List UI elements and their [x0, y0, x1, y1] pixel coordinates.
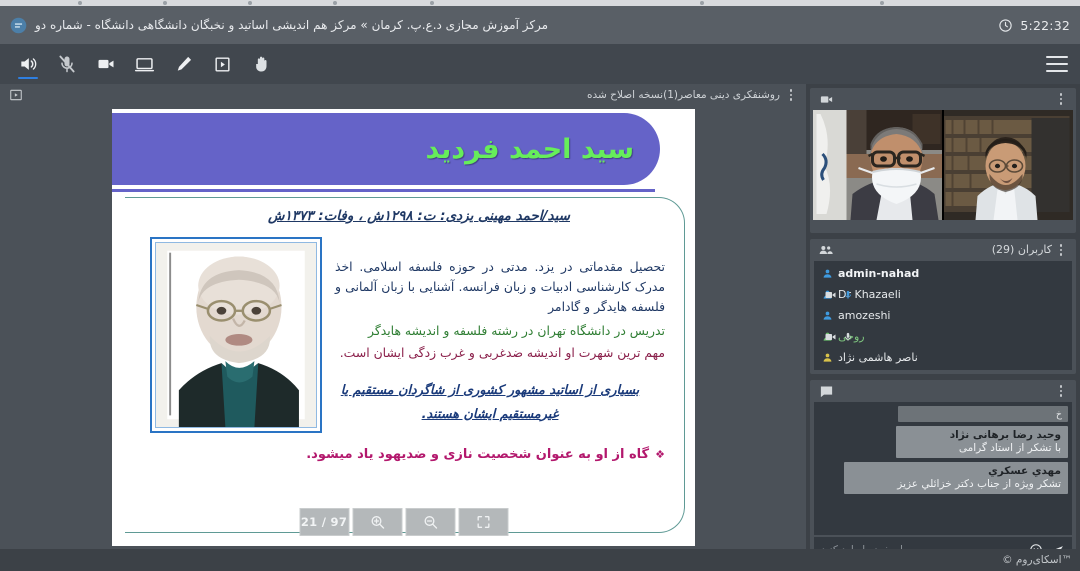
- app-footer: © اسکای‌روم™: [0, 549, 1080, 571]
- participant-name: amozeshi: [838, 309, 891, 322]
- room-logo-icon: [10, 17, 27, 34]
- camera-feeds: [813, 110, 1073, 220]
- speaker-icon: [18, 54, 38, 74]
- slide-subtitle: سید/احمد مهینی یزدی: ت: ۱۲۹۸ش ، وفات: ۱۳…: [179, 208, 659, 224]
- bullet-marker-icon: ❖: [655, 447, 665, 464]
- chat-message-author: وحید رضا برهانی نژاد: [903, 429, 1061, 441]
- app-header: 5:22:32 مرکز آموزش مجازی د.ع.پ. کرمان » …: [0, 6, 1080, 44]
- chat-partial-message-text: خ: [1056, 409, 1062, 420]
- pen-icon-button[interactable]: [164, 44, 203, 84]
- chat-message-text: با تشکر از استاد گرامی: [903, 442, 1061, 454]
- chat-panel: خ وحید رضا برهانی نژاد با تشکر از استاد …: [810, 380, 1076, 567]
- session-timer: 5:22:32: [998, 18, 1070, 33]
- presentation-icon[interactable]: [8, 87, 24, 103]
- microphone-icon[interactable]: [843, 289, 853, 301]
- microphone-muted-icon-button[interactable]: [47, 44, 86, 84]
- right-sidebar: کاربران (29) admin-nahad: [806, 84, 1080, 571]
- microphone-muted-icon: [57, 54, 77, 74]
- screen-share-icon-button[interactable]: [125, 44, 164, 84]
- camera-feed-left[interactable]: [944, 110, 1073, 220]
- list-item[interactable]: روحی: [814, 326, 1072, 347]
- clock-icon: [998, 18, 1013, 33]
- slide-body-text: تحصیل مقدماتی در یزد. مدتی در حوزه فلسفه…: [335, 257, 665, 365]
- chat-message-text: تشکر ویژه از جناب دکتر خزائلي عزیز: [851, 478, 1061, 490]
- slide-bullet-item: ❖ گاه از او به عنوان شخصیت نازی و ضدیهود…: [295, 447, 665, 464]
- slide-canvas[interactable]: سید احمد فردید سید/احمد مهینی یزدی: ت: ۱…: [112, 109, 695, 546]
- session-timer-text: 5:22:32: [1020, 18, 1070, 33]
- page-indicator-label: 21 / 97: [301, 515, 347, 529]
- raise-hand-icon: [252, 54, 272, 74]
- chat-icon: [818, 383, 834, 399]
- fullscreen-button[interactable]: [458, 508, 508, 536]
- participants-panel-header: کاربران (29): [810, 239, 1076, 261]
- zoom-in-icon: [369, 514, 385, 530]
- camera-panel: [810, 88, 1076, 233]
- slide-highlight-text: بسیاری از اساتید مشهور کشوری از شاگردان …: [315, 379, 665, 426]
- slide-portrait-frame: [150, 237, 322, 433]
- media-player-icon: [213, 55, 232, 74]
- camera-more-options-icon[interactable]: [1054, 91, 1068, 107]
- slide-paragraph-1: تحصیل مقدماتی در یزد. مدتی در حوزه فلسفه…: [335, 257, 665, 317]
- slide-bullet-text: گاه از او به عنوان شخصیت نازی و ضدیهود ی…: [306, 447, 649, 462]
- people-icon: [818, 242, 834, 258]
- hamburger-menu-icon[interactable]: [1046, 56, 1068, 72]
- list-item[interactable]: admin-nahad: [814, 263, 1072, 284]
- room-title: مرکز آموزش مجازی د.ع.پ. کرمان » مرکز هم …: [35, 18, 548, 32]
- zoom-in-button[interactable]: [352, 508, 402, 536]
- speaker-icon-button[interactable]: [8, 44, 47, 84]
- chat-message-list[interactable]: خ وحید رضا برهانی نژاد با تشکر از استاد …: [814, 402, 1072, 535]
- list-item[interactable]: Dr Khazaeli: [814, 284, 1072, 305]
- chat-message: مهدي عسکري تشکر ویژه از جناب دکتر خزائلي…: [844, 462, 1068, 494]
- chat-message-author: مهدي عسکري: [851, 465, 1061, 477]
- participant-status-icons: [824, 331, 853, 343]
- camera-feed-right[interactable]: [813, 110, 942, 220]
- zoom-out-icon: [422, 514, 438, 530]
- stage-more-options-icon[interactable]: [784, 87, 798, 103]
- slide-title-banner: سید احمد فردید: [112, 113, 660, 185]
- room-identity: مرکز آموزش مجازی د.ع.پ. کرمان » مرکز هم …: [10, 17, 548, 34]
- camera-icon-button[interactable]: [86, 44, 125, 84]
- list-item[interactable]: amozeshi: [814, 305, 1072, 326]
- stage-document-title: روشنفکری دینی معاصر(1)نسخه اصلاح شده: [587, 87, 780, 103]
- participant-status-icons: [824, 289, 853, 301]
- participants-more-options-icon[interactable]: [1054, 242, 1068, 258]
- avatar: [156, 243, 316, 427]
- zoom-out-button[interactable]: [405, 508, 455, 536]
- camera-icon: [818, 91, 834, 107]
- user-avatar-blue-icon: [821, 268, 833, 280]
- screen-share-icon: [134, 54, 155, 75]
- media-player-icon-button[interactable]: [203, 44, 242, 84]
- pen-icon: [174, 54, 194, 74]
- portrait-photo-icon: [156, 243, 316, 427]
- chat-partial-message: خ: [898, 406, 1068, 422]
- microphone-icon[interactable]: [843, 331, 853, 343]
- camera-panel-header: [810, 88, 1076, 110]
- control-toolbar: [0, 44, 1080, 84]
- participant-name: admin-nahad: [838, 267, 919, 280]
- skyroom-app: 5:22:32 مرکز آموزش مجازی د.ع.پ. کرمان » …: [0, 0, 1080, 571]
- skyroom-watermark: © اسکای‌روم™: [1002, 554, 1072, 566]
- raise-hand-icon-button[interactable]: [242, 44, 281, 84]
- user-avatar-yellow-icon: [821, 352, 833, 364]
- participants-list[interactable]: admin-nahad: [814, 261, 1072, 370]
- page-indicator[interactable]: 21 / 97: [299, 508, 349, 536]
- slide-title: سید احمد فردید: [426, 134, 634, 165]
- slide-banner-underline: [112, 189, 655, 192]
- camera-icon[interactable]: [824, 332, 838, 342]
- participant-name: ناصر هاشمی نژاد: [838, 351, 918, 364]
- fullscreen-icon: [475, 514, 491, 530]
- participants-title: کاربران (29): [992, 239, 1052, 261]
- slide-paragraph-3: مهم ترین شهرت او اندیشه ضدغربی و غرب زدگ…: [335, 343, 665, 363]
- chat-more-options-icon[interactable]: [1054, 383, 1068, 399]
- list-item[interactable]: ناصر هاشمی نژاد: [814, 347, 1072, 368]
- stage-titlebar: روشنفکری دینی معاصر(1)نسخه اصلاح شده: [0, 84, 806, 106]
- slide-paragraph-2: تدریس در دانشگاه تهران در رشته فلسفه و ا…: [335, 321, 665, 341]
- chat-panel-header: [810, 380, 1076, 402]
- slide-navigation-controls: 21 / 97: [299, 508, 508, 536]
- participants-panel: کاربران (29) admin-nahad: [810, 239, 1076, 374]
- user-avatar-blue-icon: [821, 310, 833, 322]
- camera-icon: [96, 54, 116, 74]
- chat-message: وحید رضا برهانی نژاد با تشکر از استاد گر…: [896, 426, 1068, 458]
- camera-icon[interactable]: [824, 290, 838, 300]
